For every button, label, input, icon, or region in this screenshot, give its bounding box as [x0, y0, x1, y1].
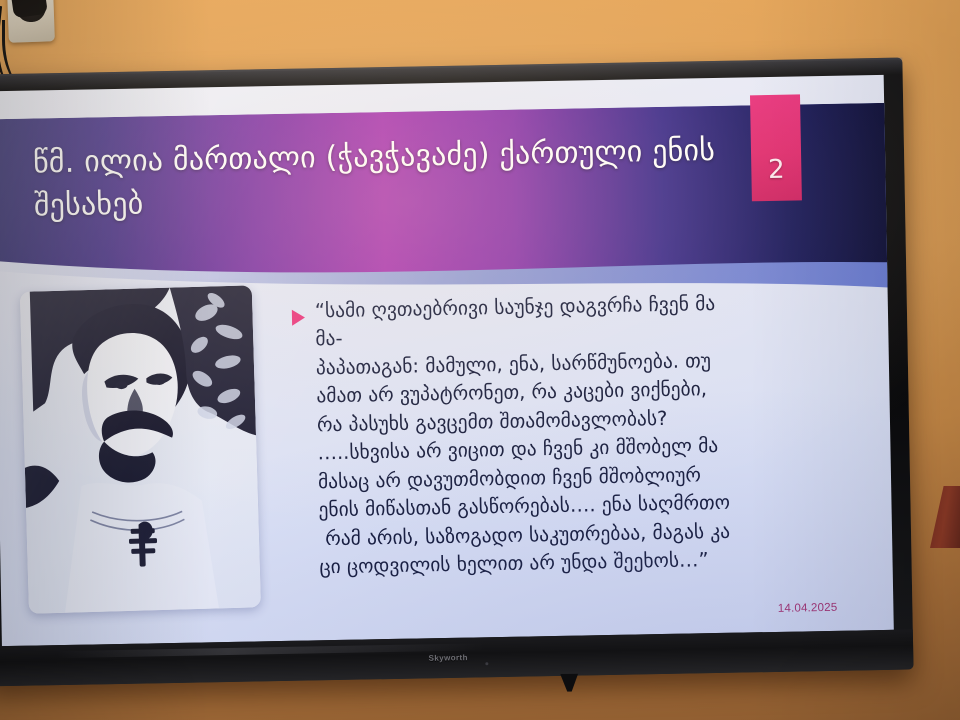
television: 2 წმ. ილია მართალი (ჭავჭავაძე) ქართული ე… [0, 58, 914, 687]
room-scene: 2 წმ. ილია მართალი (ჭავჭავაძე) ქართული ე… [0, 0, 960, 720]
triangle-bullet-icon [292, 310, 305, 326]
slide-title: წმ. ილია მართალი (ჭავჭავაძე) ქართული ენი… [33, 130, 734, 228]
wall-mounted-red-object [930, 486, 960, 548]
tv-screen: 2 წმ. ილია მართალი (ჭავჭავაძე) ქართული ე… [0, 75, 894, 646]
bullet-row: “სამი ღვთაებრივი საუნჯე დაგვრჩა ჩვენ მა … [292, 287, 857, 582]
portrait-photo [20, 285, 261, 614]
ir-receiver-icon [486, 662, 489, 665]
slide-number-value: 2 [768, 157, 785, 183]
chin-highlight [57, 643, 485, 658]
footer-date: 14.04.2025 [778, 602, 838, 615]
slide-body: “სამი ღვთაებრივი საუნჯე დაგვრჩა ჩვენ მა … [292, 287, 857, 582]
tv-bezel: 2 წმ. ილია მართალი (ჭავჭავაძე) ქართული ე… [0, 58, 914, 687]
quote-text: “სამი ღვთაებრივი საუნჯე დაგვრჩა ჩვენ მა … [315, 290, 732, 582]
tv-brand-logo: Skyworth [429, 653, 468, 663]
slide-number-badge: 2 [750, 94, 802, 201]
tv-mount-bracket [560, 674, 578, 692]
